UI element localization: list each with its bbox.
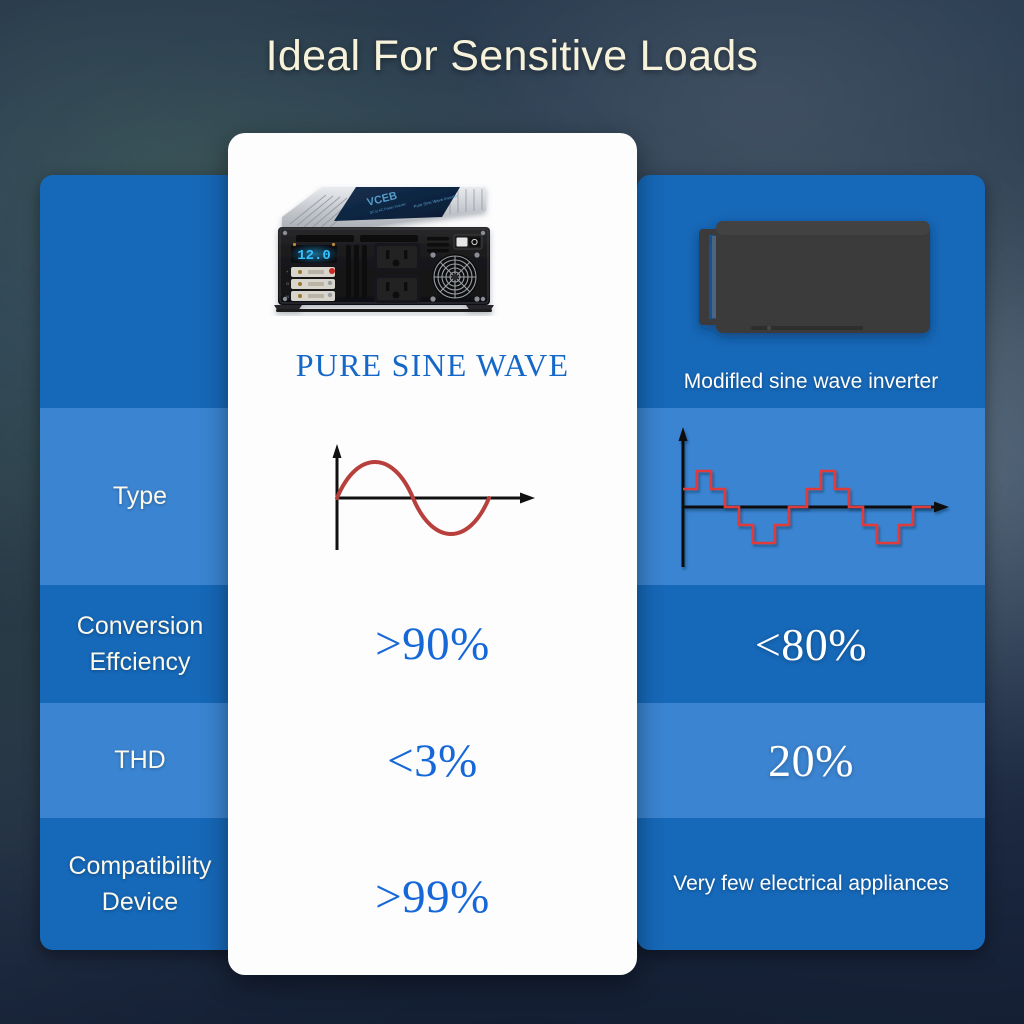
pure-thd-cell: <3% (228, 703, 637, 818)
sine-wave-icon (313, 432, 553, 562)
svg-text:N: N (286, 294, 289, 299)
label-compatibility-line1: Compatibility (68, 848, 211, 884)
ac-outlet-upper (374, 243, 420, 271)
modified-conversion-efficiency-cell: <80% (637, 585, 985, 703)
modified-waveform-cell (637, 408, 985, 585)
pure-product-name: PURE SINE WAVE (228, 347, 637, 384)
stepped-wave-graphic (637, 408, 985, 585)
label-thd: THD (106, 742, 173, 778)
modified-sine-column: Modifled sine wave inverter (637, 175, 985, 950)
modified-compatibility-cell: Very few electrical appliances (637, 818, 985, 950)
ac-outlet-lower (374, 275, 420, 303)
label-compatibility-device: Compatibility Device (60, 848, 219, 921)
pure-waveform-cell (228, 408, 637, 585)
parameter-label-panel: Type Conversion Effciency THD Compatibil… (40, 175, 240, 950)
sine-wave-graphic (228, 408, 637, 585)
modified-sine-wave-inverter-silhouette-icon (681, 207, 941, 347)
label-cell-compatibility-device: Compatibility Device (40, 818, 240, 950)
power-switch (454, 235, 482, 249)
pure-compatibility-cell: >99% (228, 818, 637, 975)
modified-product-cell: Modifled sine wave inverter (637, 175, 985, 408)
pure-compatibility-value: >99% (375, 870, 490, 924)
pure-product-cell: VCEB Pure Sine Wave Inverter DC to AC Po… (228, 133, 637, 408)
pure-thd-value: <3% (387, 734, 478, 788)
label-cell-type: Type (40, 408, 240, 585)
modified-compatibility-value: Very few electrical appliances (663, 872, 958, 896)
pure-sine-wave-inverter-photo-icon: VCEB Pure Sine Wave Inverter DC to AC Po… (264, 181, 504, 316)
stepped-wave-icon (661, 417, 961, 577)
modified-conversion-efficiency-value: <80% (755, 618, 867, 671)
pure-sine-column: VCEB Pure Sine Wave Inverter DC to AC Po… (228, 133, 637, 975)
label-conversion-efficiency: Conversion Effciency (69, 608, 211, 681)
voltage-display-reading: 12.0 (297, 248, 331, 264)
infographic-canvas: Ideal For Sensitive Loads Type Conversio… (0, 0, 1024, 1024)
label-cell-conversion-efficiency: Conversion Effciency (40, 585, 240, 703)
modified-thd-cell: 20% (637, 703, 985, 818)
pure-conversion-efficiency-value: >90% (375, 617, 490, 671)
pure-conversion-efficiency-cell: >90% (228, 585, 637, 703)
modified-product-name: Modifled sine wave inverter (637, 370, 985, 394)
label-compatibility-line2: Device (68, 884, 211, 920)
label-cell-thd: THD (40, 703, 240, 818)
label-cell-header (40, 175, 240, 408)
label-conversion-line2: Effciency (77, 644, 203, 680)
label-conversion-line1: Conversion (77, 608, 203, 644)
svg-text:G: G (286, 281, 289, 286)
page-title: Ideal For Sensitive Loads (0, 32, 1024, 81)
label-type: Type (105, 478, 175, 514)
modified-thd-value: 20% (768, 734, 854, 787)
